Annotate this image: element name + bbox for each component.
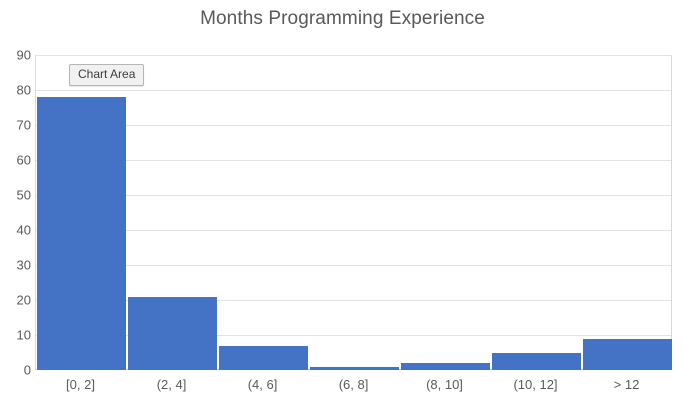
x-tick-label: (10, 12] <box>490 374 581 396</box>
bar[interactable] <box>492 353 581 371</box>
bar[interactable] <box>128 297 217 371</box>
bar[interactable] <box>37 97 126 370</box>
y-tick-label-60: 60 <box>3 154 31 167</box>
y-tick-label-10: 10 <box>3 329 31 342</box>
x-tick-label: (4, 6] <box>217 374 308 396</box>
plot-area[interactable] <box>35 55 672 370</box>
x-tick-label: (6, 8] <box>308 374 399 396</box>
y-axis: 9080706050403020100 <box>0 55 31 370</box>
y-tick-label-0: 0 <box>3 364 31 377</box>
y-tick-label-40: 40 <box>3 224 31 237</box>
bar[interactable] <box>219 346 308 371</box>
y-tick-label-50: 50 <box>3 189 31 202</box>
y-tick-label-70: 70 <box>3 119 31 132</box>
y-tick-label-90: 90 <box>3 49 31 62</box>
bar[interactable] <box>310 367 399 371</box>
y-tick-label-80: 80 <box>3 84 31 97</box>
chart-container[interactable]: Months Programming Experience 9080706050… <box>0 0 685 405</box>
bar-series[interactable] <box>36 55 671 370</box>
y-tick-label-30: 30 <box>3 259 31 272</box>
bar[interactable] <box>583 339 672 371</box>
x-tick-label: (2, 4] <box>126 374 217 396</box>
x-tick-label: [0, 2] <box>35 374 126 396</box>
chart-area-tooltip: Chart Area <box>69 64 144 86</box>
x-tick-label: > 12 <box>581 374 672 396</box>
x-tick-label: (8, 10] <box>399 374 490 396</box>
y-tick-label-20: 20 <box>3 294 31 307</box>
x-axis: [0, 2](2, 4](4, 6](6, 8](8, 10](10, 12]>… <box>35 374 672 400</box>
bar[interactable] <box>401 363 490 370</box>
chart-title: Months Programming Experience <box>0 8 685 30</box>
